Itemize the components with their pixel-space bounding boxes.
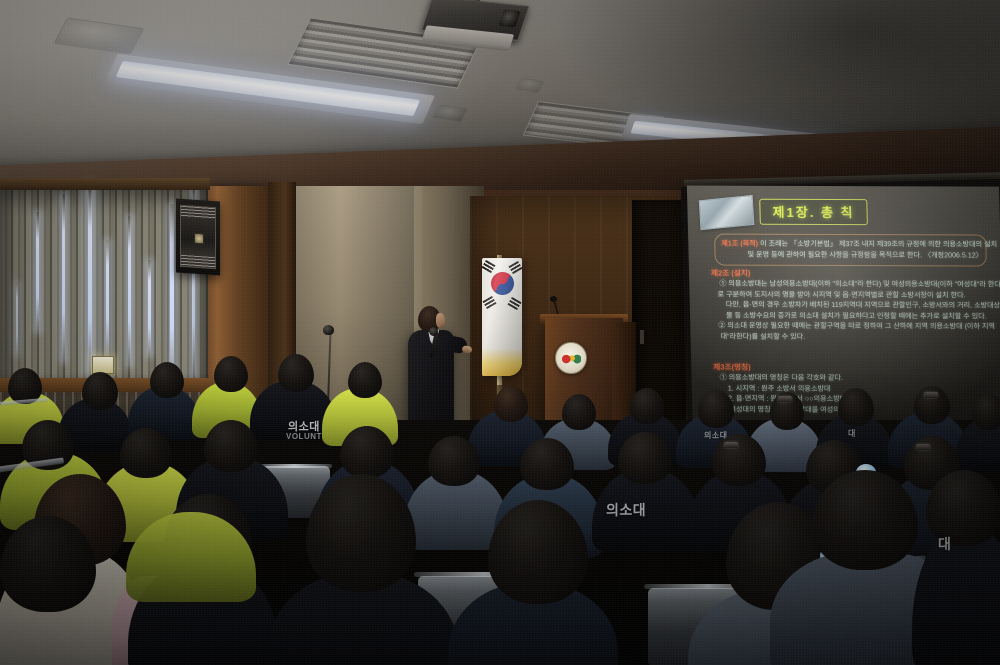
attendee-head bbox=[214, 356, 248, 392]
attendee-head bbox=[340, 426, 394, 478]
uniform-back-text: 대 bbox=[848, 428, 856, 439]
slide-article1-line-2: 및 운영 등에 관하여 필요한 사항을 규정함을 목적으로 한다. 〈개정200… bbox=[721, 249, 979, 260]
speaker-grille-bottom bbox=[181, 255, 215, 268]
hair-clip bbox=[924, 392, 938, 398]
slide-article1-line-1: 제1조 (목적) 이 조례는 「소방기본법」 제37조 내지 제39조의 규정에… bbox=[721, 239, 979, 250]
attendee-head bbox=[428, 436, 480, 486]
attendee-head bbox=[972, 394, 1000, 430]
attendee-head bbox=[630, 388, 664, 424]
attendee-head bbox=[520, 438, 574, 490]
slide-article2-section: 제2조 (설치) ① 의용소방대는 남성의용소방대(이하 "의소대"라 한다) … bbox=[711, 268, 1000, 343]
slide-article2-line-6: 대"라한다)를 설치할 수 있다. bbox=[712, 331, 1000, 343]
attendee-head bbox=[838, 388, 874, 426]
lecture-hall-screenshot: 제1장. 총 칙 제1조 (목적) 이 조례는 「소방기본법」 제37조 내지 … bbox=[0, 0, 1000, 665]
slide-article2-line-1: ① 의용소방대는 남성의용소방대(이하 "의소대"라 한다) 및 여성의용소방대… bbox=[711, 279, 1000, 291]
presenter-hand bbox=[462, 345, 473, 353]
speaker-driver-icon bbox=[194, 233, 204, 245]
uniform-back-text: 대 bbox=[938, 534, 951, 554]
door-handle-icon bbox=[640, 330, 644, 344]
hair-clip bbox=[916, 444, 930, 450]
presenter-microphone-head-icon bbox=[429, 327, 438, 336]
slide-chapter-title: 제1장. 총 칙 bbox=[759, 199, 868, 225]
floor-microphone-head-icon bbox=[323, 325, 334, 335]
slide-article2-line-3: 다만, 읍·면의 경우 소방차가 배치된 119지역대 지역으로 관할인구, 소… bbox=[712, 300, 1000, 312]
attendee-head bbox=[82, 372, 118, 410]
flag-shading bbox=[482, 258, 522, 376]
blinds-headrail bbox=[0, 178, 210, 190]
emblem-graphic-icon bbox=[562, 353, 581, 364]
slide-decorative-thumbnail bbox=[699, 195, 755, 230]
hair-clip bbox=[778, 396, 792, 402]
attendee-head bbox=[618, 432, 672, 484]
attendee-head bbox=[494, 386, 528, 422]
south-korean-flag-taegukgi bbox=[482, 258, 522, 376]
attendee-head bbox=[562, 394, 596, 430]
hair-clip bbox=[724, 442, 738, 448]
slide-article3-label: 제3조(명칭) bbox=[713, 362, 871, 374]
attendee-head bbox=[150, 362, 184, 398]
attendee-head bbox=[712, 434, 766, 486]
slide-article2-label: 제2조 (설치) bbox=[711, 268, 1000, 280]
slide-article1-label: 제1조 (목적) bbox=[721, 240, 758, 248]
attendee-head bbox=[698, 390, 734, 428]
slide-article1-box: 제1조 (목적) 이 조례는 「소방기본법」 제37조 내지 제39조의 규정에… bbox=[714, 234, 987, 267]
chair-rim bbox=[256, 464, 332, 468]
speaker-grille-top bbox=[181, 206, 215, 219]
presenter-face bbox=[436, 313, 445, 328]
attendee-head bbox=[204, 420, 258, 472]
attendee-head bbox=[348, 362, 382, 398]
uniform-back-text: 의소대 bbox=[606, 500, 646, 520]
attendee-head bbox=[120, 428, 172, 478]
wall-mounted-loudspeaker bbox=[180, 205, 216, 270]
slide-article3-line-1: ① 의용소방대의 명칭은 다음 각호와 같다. bbox=[713, 373, 871, 384]
slide-article2-line-5: ② 의소대 운영상 필요한 때에는 관할구역을 따로 정하여 그 산하에 지역 … bbox=[712, 321, 1000, 333]
window-sign bbox=[92, 356, 114, 374]
slide-article1-text-1: 이 조례는 「소방기본법」 제37조 내지 제39조의 규정에 의한 의용소방대… bbox=[760, 240, 997, 249]
podium-city-emblem bbox=[555, 342, 587, 374]
attendee-head bbox=[278, 354, 314, 392]
